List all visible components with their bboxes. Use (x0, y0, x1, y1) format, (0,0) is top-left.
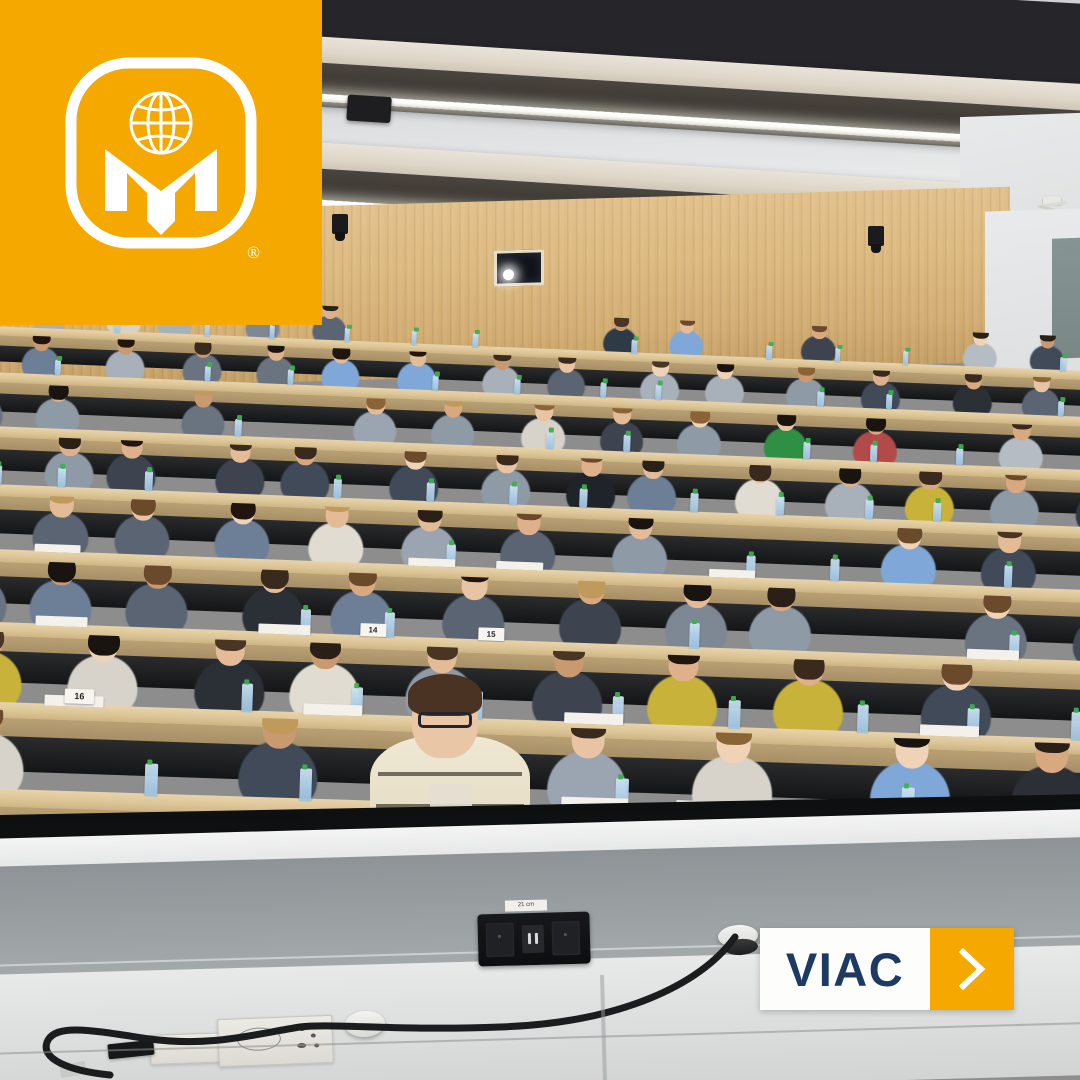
water-bottle-icon (344, 327, 350, 342)
water-bottle-icon (426, 482, 435, 503)
water-bottle-icon (269, 324, 275, 339)
answer-sheet (304, 703, 363, 716)
socket-panel[interactable] (477, 912, 590, 967)
water-bottle-icon (776, 496, 785, 517)
water-bottle-icon (1057, 401, 1064, 417)
water-bottle-icon (287, 369, 294, 385)
water-bottle-icon (235, 419, 243, 437)
student-hair (47, 558, 76, 583)
water-bottle-icon (817, 391, 824, 407)
student-hair (613, 313, 629, 327)
front-student-glasses (418, 712, 472, 728)
water-bottle-icon (857, 704, 869, 734)
water-bottle-icon (803, 442, 811, 460)
water-bottle-icon (1071, 711, 1080, 741)
wall-camera-icon (868, 226, 884, 246)
usb-socket-icon[interactable] (522, 925, 545, 954)
ceiling-spotlight-icon (346, 94, 392, 123)
seat-number-placard: 14 (360, 623, 386, 637)
student-hair (680, 316, 696, 327)
answer-sheet (258, 623, 310, 635)
water-bottle-icon (933, 502, 942, 523)
viac-badge[interactable]: VIAC (760, 928, 1014, 1010)
registered-trademark-mark: ® (247, 243, 260, 263)
water-bottle-icon (546, 432, 554, 450)
water-bottle-icon (886, 394, 893, 410)
water-bottle-icon (411, 330, 417, 345)
answer-sheet (966, 649, 1018, 661)
water-bottle-icon (830, 559, 840, 582)
water-bottle-icon (145, 763, 159, 797)
water-bottle-icon (600, 382, 607, 398)
mensa-logo-block: ® (0, 0, 322, 325)
socket-tag: 21 cm (505, 899, 547, 911)
water-bottle-icon (0, 465, 2, 486)
front-student-hair (408, 674, 482, 716)
water-bottle-icon (655, 384, 662, 400)
water-bottle-icon (870, 445, 878, 463)
water-bottle-icon (690, 493, 699, 514)
water-bottle-icon (241, 683, 253, 713)
water-bottle-icon (144, 471, 153, 492)
seat-number-placard: 16 (65, 689, 95, 705)
power-socket-icon[interactable] (486, 923, 515, 958)
screenshot-root: 141516 21 cm (0, 0, 1080, 1080)
front-student-badge (430, 784, 472, 808)
student-hair (812, 321, 828, 332)
water-bottle-icon (631, 339, 637, 354)
water-bottle-icon (865, 499, 874, 520)
wall-camera-icon (332, 214, 348, 234)
seat-number-placard: 15 (478, 627, 504, 641)
water-bottle-icon (514, 379, 521, 395)
water-bottle-icon (728, 700, 740, 730)
student-hair (973, 328, 989, 340)
viac-label-panel: VIAC (760, 928, 930, 1010)
mensa-m-globe-icon (61, 53, 261, 253)
front-student-stripe (378, 772, 522, 776)
water-bottle-icon (623, 435, 631, 453)
power-socket-icon[interactable] (552, 921, 581, 956)
water-bottle-icon (432, 375, 439, 391)
answer-sheet (920, 724, 979, 737)
podium-cable (0, 965, 800, 1080)
water-bottle-icon (1060, 357, 1066, 372)
water-bottle-icon (1003, 566, 1013, 589)
water-bottle-icon (956, 448, 964, 466)
water-bottle-icon (766, 345, 772, 360)
water-bottle-icon (689, 623, 700, 649)
water-bottle-icon (509, 485, 518, 506)
water-bottle-icon (579, 488, 588, 509)
answer-sheet (35, 615, 87, 627)
answer-sheet (564, 712, 623, 725)
water-bottle-icon (903, 350, 909, 365)
water-bottle-icon (57, 468, 66, 489)
tiered-seating: 141516 (0, 282, 1080, 842)
student-hair (323, 301, 339, 311)
water-bottle-icon (333, 478, 342, 499)
water-bottle-icon (54, 360, 61, 376)
water-bottle-icon (299, 768, 313, 802)
viac-label: VIAC (786, 942, 904, 997)
water-bottle-icon (204, 366, 211, 382)
viac-arrow-button[interactable] (930, 928, 1014, 1010)
water-bottle-icon (835, 348, 841, 363)
water-bottle-icon (472, 333, 478, 348)
chevron-right-icon (955, 946, 989, 992)
student-hair (1040, 330, 1056, 342)
